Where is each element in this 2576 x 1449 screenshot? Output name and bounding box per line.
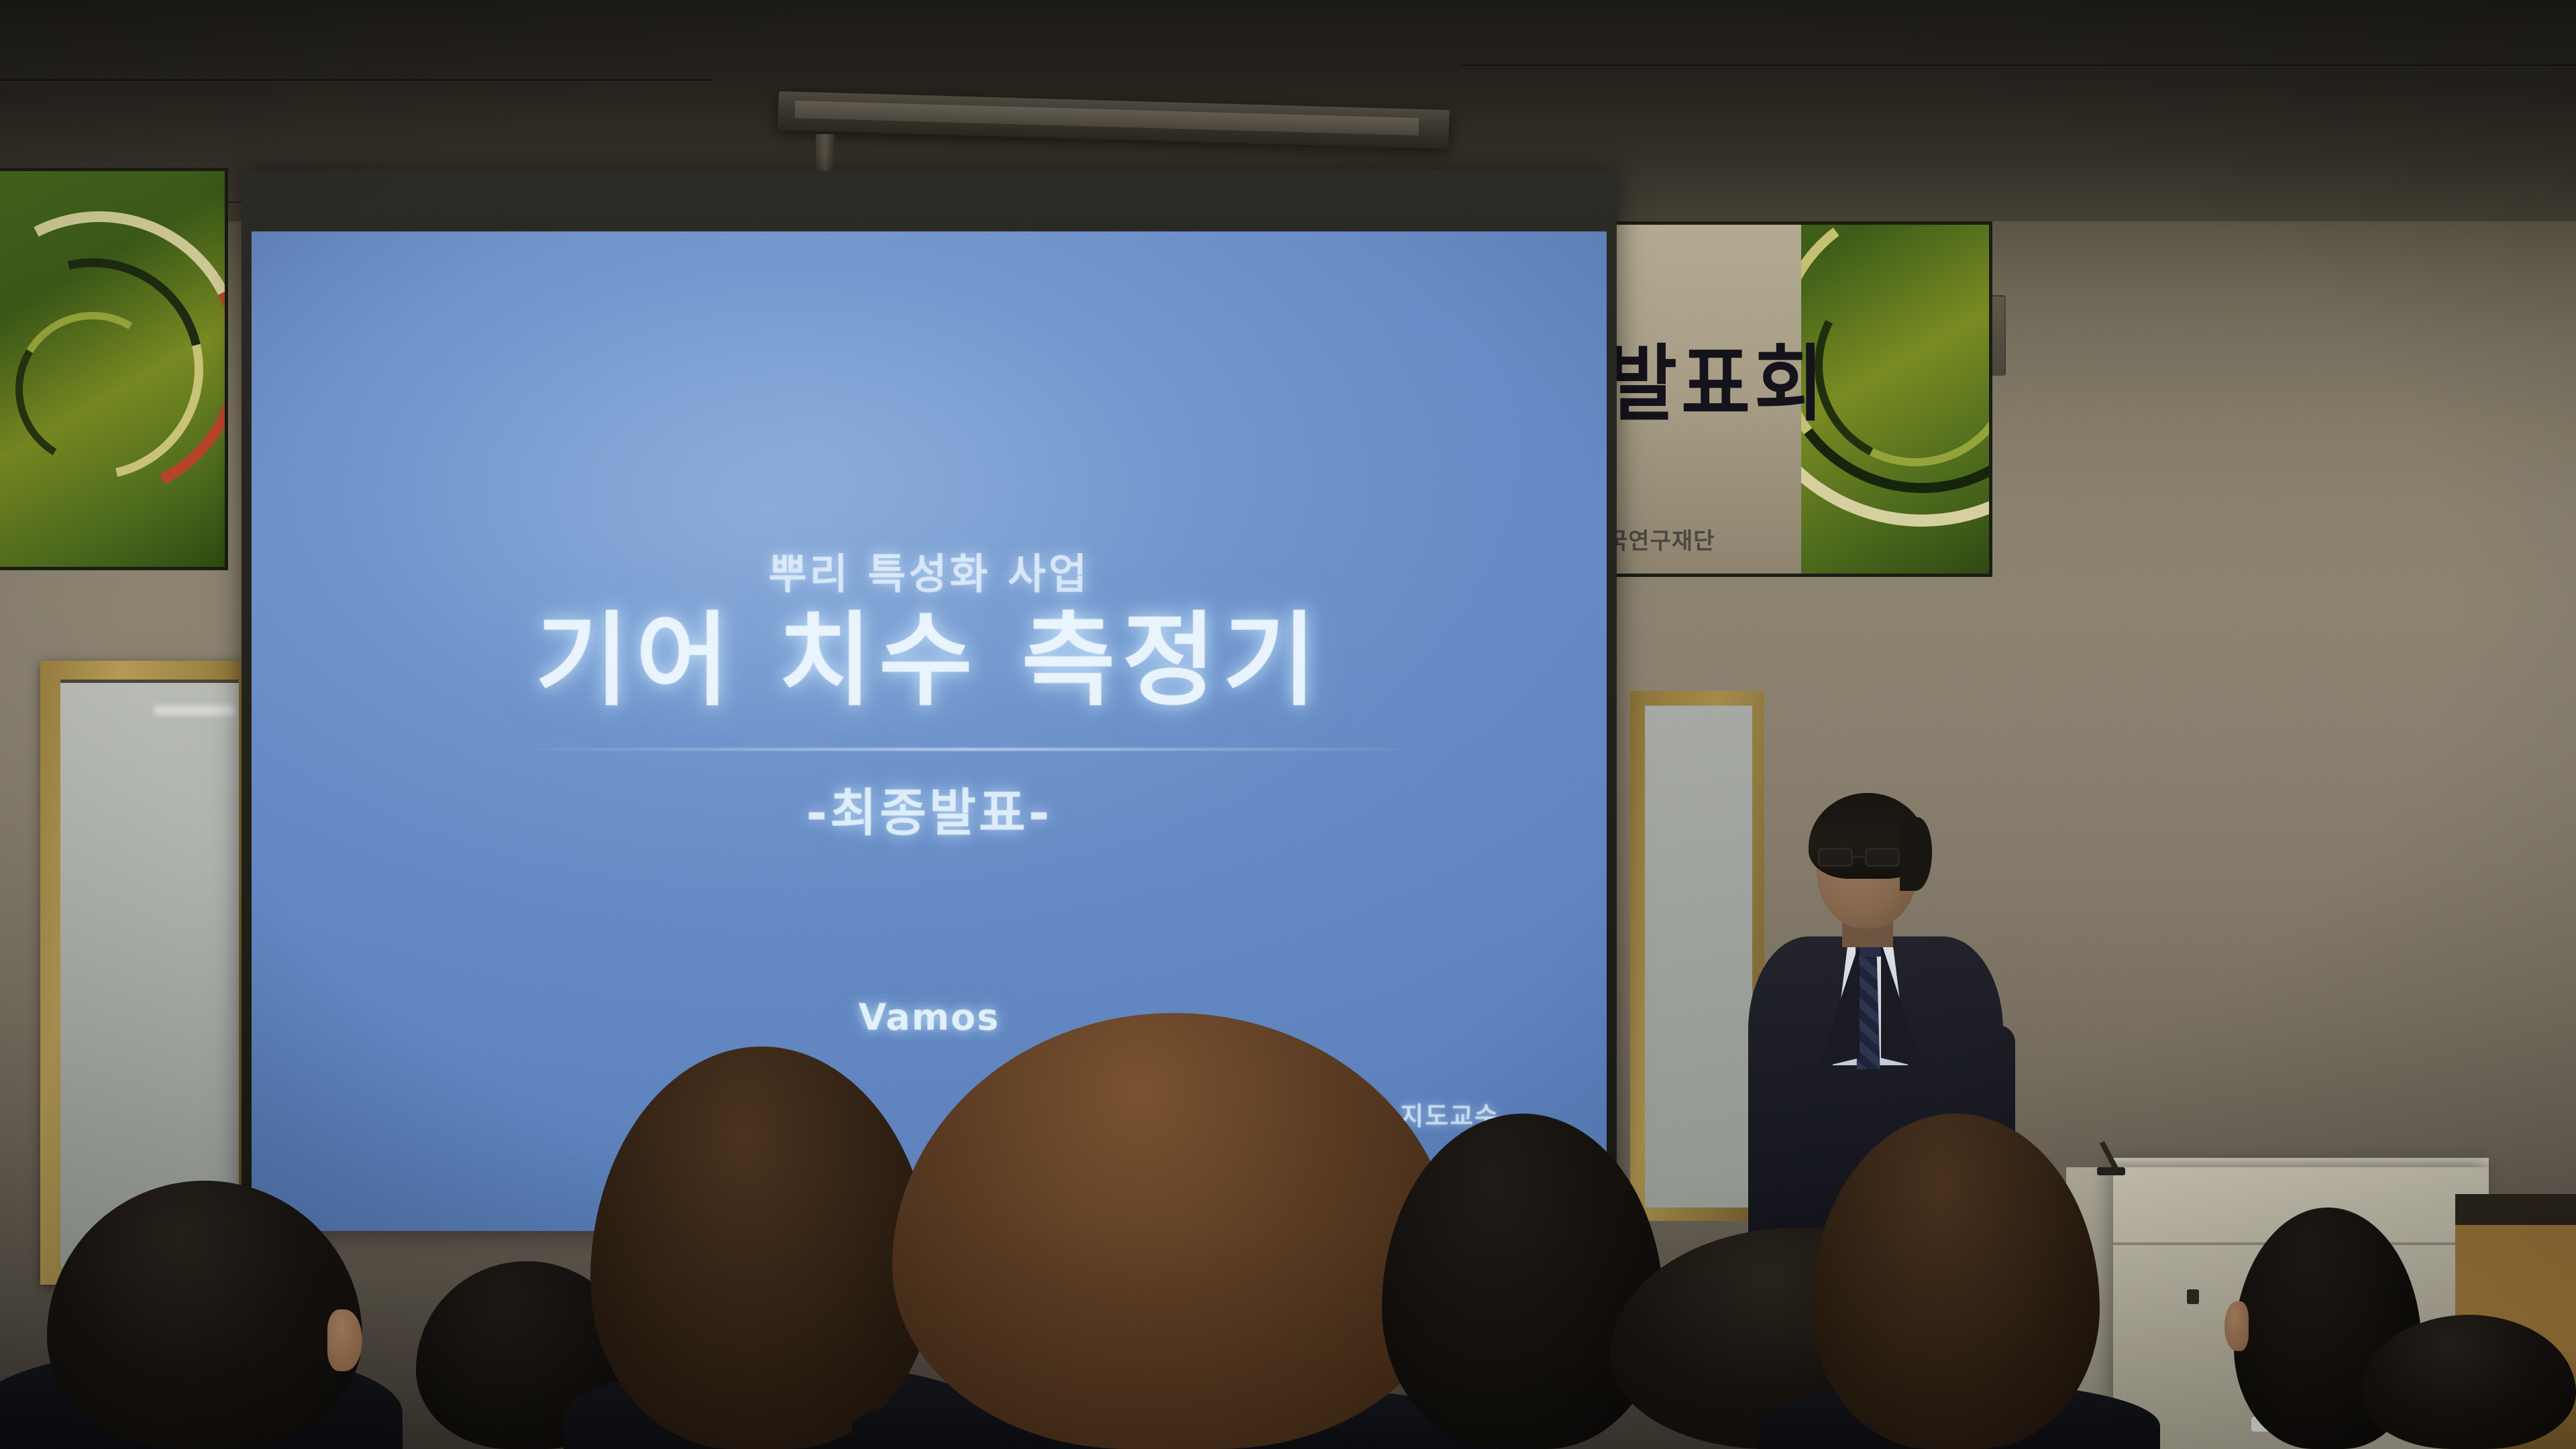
glasses-icon xyxy=(1818,848,1904,868)
screen-vignette xyxy=(252,231,1607,1231)
presenter-hair-side xyxy=(1900,817,1932,891)
banner-left xyxy=(0,168,228,570)
audience-ear xyxy=(327,1309,362,1371)
banner-headline: 발표회 xyxy=(1608,343,1827,425)
wall-board-left-face xyxy=(60,680,239,1267)
podium-knob xyxy=(2187,1289,2199,1304)
board-glint xyxy=(154,706,235,715)
ceiling-seam xyxy=(0,79,711,81)
photo-canvas: 발표회 국연구재단 뿌리 특성화 사업 기어 치수 측정기 -최종발표- Vam… xyxy=(0,0,2576,1449)
banner-right: 발표회 국연구재단 xyxy=(1576,221,1992,577)
microphone-base xyxy=(2097,1167,2125,1175)
ceiling-seam xyxy=(1462,64,2576,66)
glasses-lens-left xyxy=(1818,848,1853,867)
glasses-bridge xyxy=(1853,856,1865,858)
banner-subtext: 국연구재단 xyxy=(1607,523,1715,555)
projection-screen: 뿌리 특성화 사업 기어 치수 측정기 -최종발표- Vamos 지도교수 발표… xyxy=(252,231,1607,1231)
glasses-lens-right xyxy=(1865,848,1900,867)
audience-ear xyxy=(2224,1301,2249,1351)
